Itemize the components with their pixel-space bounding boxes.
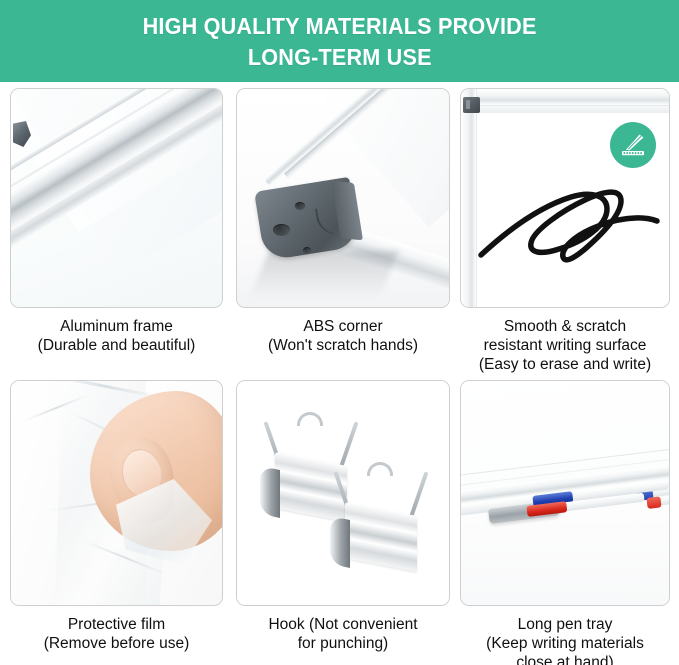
caption-pen-tray: Long pen tray (Keep writing materials cl…	[460, 615, 670, 665]
feature-cell-aluminum-frame: Aluminum frame (Durable and beautiful)	[10, 88, 223, 355]
hook-illustration	[237, 381, 449, 605]
eraser-badge	[610, 122, 656, 168]
feature-image-writing-surface	[460, 88, 670, 308]
banner-title-line-2: LONG-TERM USE	[248, 42, 432, 72]
aluminum-frame-illustration	[11, 89, 222, 307]
feature-image-aluminum-frame	[10, 88, 223, 308]
feature-cell-abs-corner: ABS corner (Won't scratch hands)	[236, 88, 450, 355]
caption-aluminum-frame: Aluminum frame (Durable and beautiful)	[10, 317, 223, 355]
caption-writing-surface: Smooth & scratch resistant writing surfa…	[460, 317, 670, 374]
feature-cell-writing-surface: Smooth & scratch resistant writing surfa…	[460, 88, 670, 374]
feature-row-2: Protective film (Remove before use)	[0, 380, 679, 665]
feature-grid: Aluminum frame (Durable and beautiful)	[0, 88, 679, 665]
feature-row-1: Aluminum frame (Durable and beautiful)	[0, 88, 679, 380]
eraser-icon	[618, 130, 648, 160]
caption-hook: Hook (Not convenient for punching)	[236, 615, 450, 653]
writing-surface-illustration	[461, 89, 669, 307]
feature-cell-hook: Hook (Not convenient for punching)	[236, 380, 450, 653]
header-banner: HIGH QUALITY MATERIALS PROVIDE LONG-TERM…	[0, 0, 679, 82]
caption-protective-film: Protective film (Remove before use)	[10, 615, 223, 653]
wall-bracket-icon	[463, 97, 480, 113]
feature-cell-protective-film: Protective film (Remove before use)	[10, 380, 223, 653]
abs-corner-illustration	[237, 89, 449, 307]
feature-cell-pen-tray: Long pen tray (Keep writing materials cl…	[460, 380, 670, 665]
marker-scribble	[475, 167, 670, 287]
banner-title-line-1: HIGH QUALITY MATERIALS PROVIDE	[142, 11, 536, 41]
protective-film-illustration	[11, 381, 222, 605]
pen-tray-illustration	[461, 381, 669, 605]
feature-image-hook	[236, 380, 450, 606]
product-feature-infographic: HIGH QUALITY MATERIALS PROVIDE LONG-TERM…	[0, 0, 679, 665]
feature-image-protective-film	[10, 380, 223, 606]
caption-abs-corner: ABS corner (Won't scratch hands)	[236, 317, 450, 355]
feature-image-pen-tray	[460, 380, 670, 606]
feature-image-abs-corner	[236, 88, 450, 308]
